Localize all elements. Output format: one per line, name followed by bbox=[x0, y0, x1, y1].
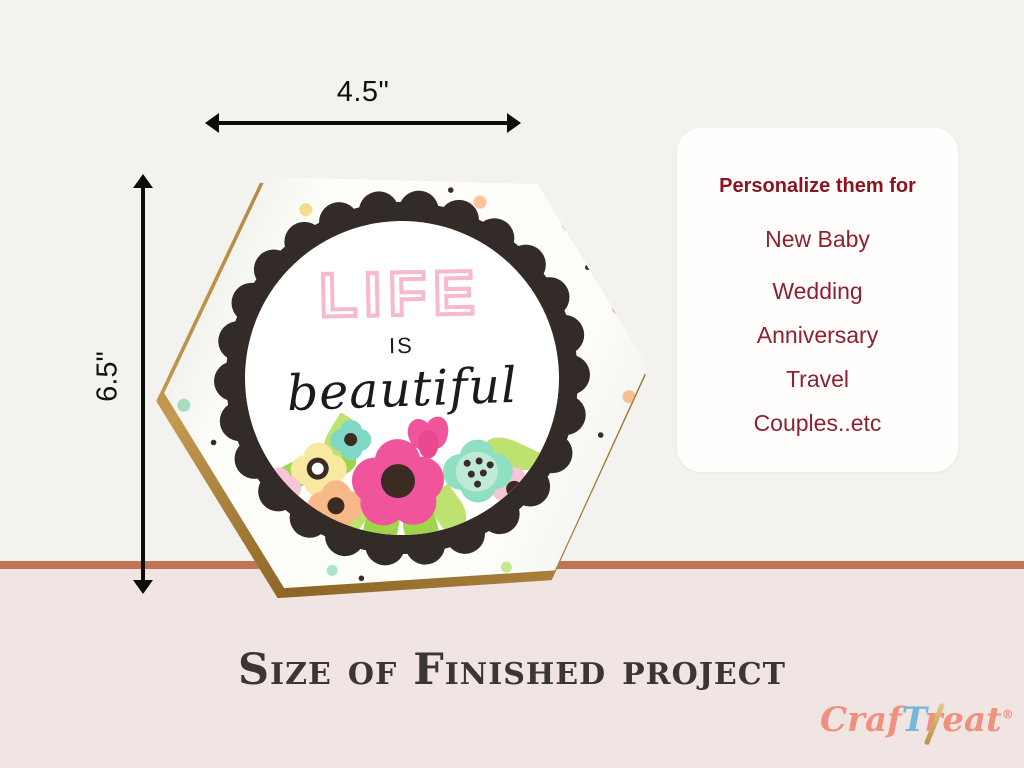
product-size-infographic: 4.5" 6.5" LIFE IS beautiful bbox=[0, 0, 1024, 768]
logo-part-t: T bbox=[902, 700, 925, 740]
arrow-shaft bbox=[141, 184, 145, 584]
life-text: LIFE bbox=[243, 256, 558, 333]
horizontal-dimension-arrow bbox=[205, 113, 521, 133]
personalize-option: New Baby bbox=[677, 228, 958, 251]
caption-size-of-finished-project: Size of Finished project bbox=[0, 645, 1024, 695]
width-dimension-label: 4.5" bbox=[205, 76, 521, 109]
height-dimension-label: 6.5" bbox=[92, 317, 125, 437]
personalize-option: Couples..etc bbox=[677, 412, 958, 435]
personalize-option: Anniversary bbox=[677, 324, 958, 347]
personalize-option: Travel bbox=[677, 368, 958, 391]
beautiful-text: beautiful bbox=[244, 355, 560, 423]
craftreat-logo: CrafTreat® bbox=[820, 700, 1000, 750]
personalize-card-title: Personalize them for bbox=[677, 175, 958, 198]
arrow-shaft bbox=[215, 121, 511, 125]
main-pink-flower-icon bbox=[351, 438, 445, 522]
personalize-card: Personalize them for New BabyWeddingAnni… bbox=[677, 128, 958, 472]
arrow-head-right-icon bbox=[507, 113, 521, 133]
logo-part-craf: Craf bbox=[820, 700, 902, 740]
small-pink-flower-icon bbox=[257, 467, 302, 510]
hexagon-gift-box: LIFE IS beautiful bbox=[148, 170, 648, 600]
personalize-option: Wedding bbox=[677, 280, 958, 303]
flower-bouquet bbox=[246, 414, 562, 538]
white-center-disc: LIFE IS beautiful bbox=[242, 218, 562, 538]
logo-trademark: ® bbox=[1002, 708, 1014, 722]
personalize-options-list: New BabyWeddingAnniversaryTravelCouples.… bbox=[677, 228, 958, 456]
